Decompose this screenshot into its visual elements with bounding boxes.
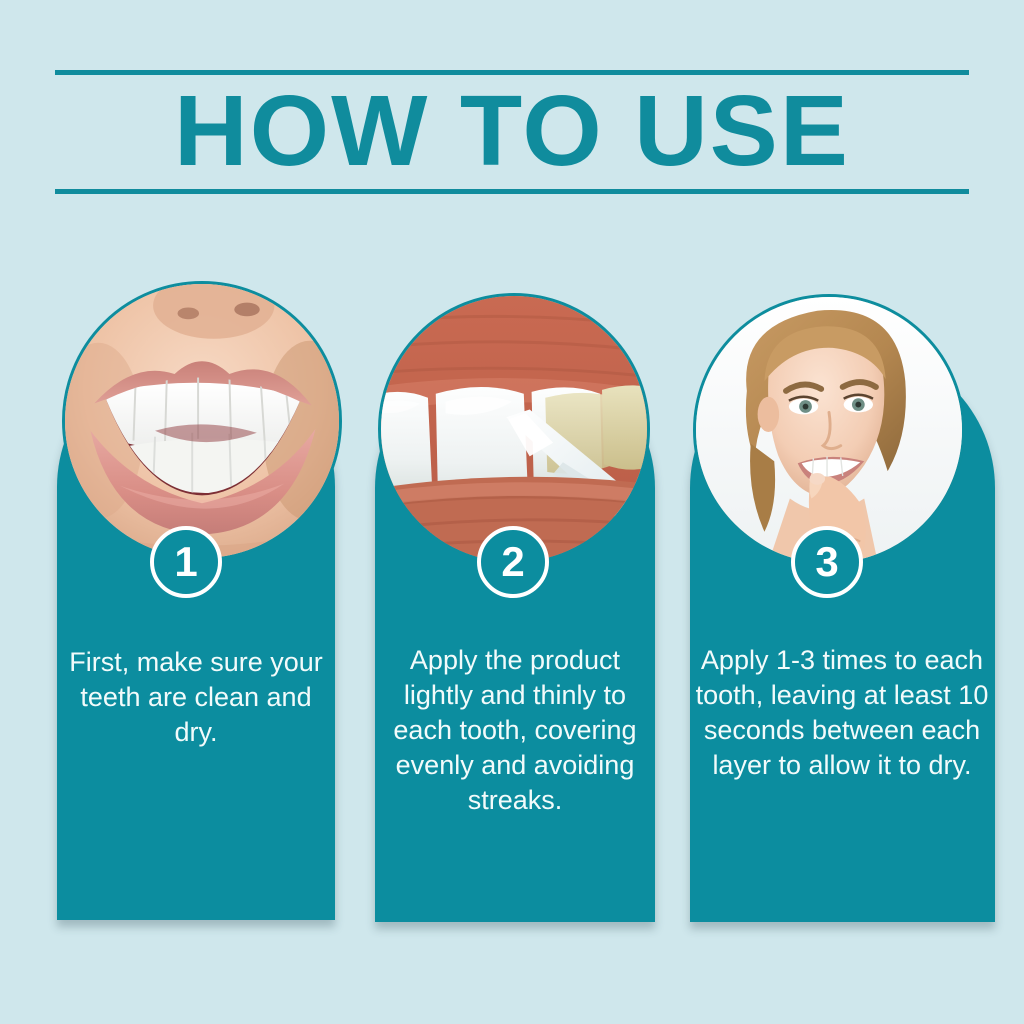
step-3-number-badge: 3	[791, 526, 863, 598]
step-1-photo	[62, 281, 342, 561]
step-2-caption: Apply the product lightly and thinly to …	[378, 643, 652, 818]
step-2-number-badge: 2	[477, 526, 549, 598]
header: HOW TO USE	[55, 70, 969, 194]
step-1-number-badge: 1	[150, 526, 222, 598]
macro-teeth-applicator-photo	[381, 296, 647, 562]
step-3-caption: Apply 1-3 times to each tooth, leaving a…	[694, 643, 990, 783]
woman-pointing-at-smile-photo	[696, 297, 962, 563]
title-rule-bottom	[55, 189, 969, 194]
step-1-caption: First, make sure your teeth are clean an…	[62, 645, 330, 750]
page-title: HOW TO USE	[46, 75, 978, 189]
how-to-use-infographic: HOW TO USE	[0, 0, 1024, 1024]
close-up-smiling-mouth-photo	[65, 284, 339, 558]
step-2-photo	[378, 293, 650, 565]
